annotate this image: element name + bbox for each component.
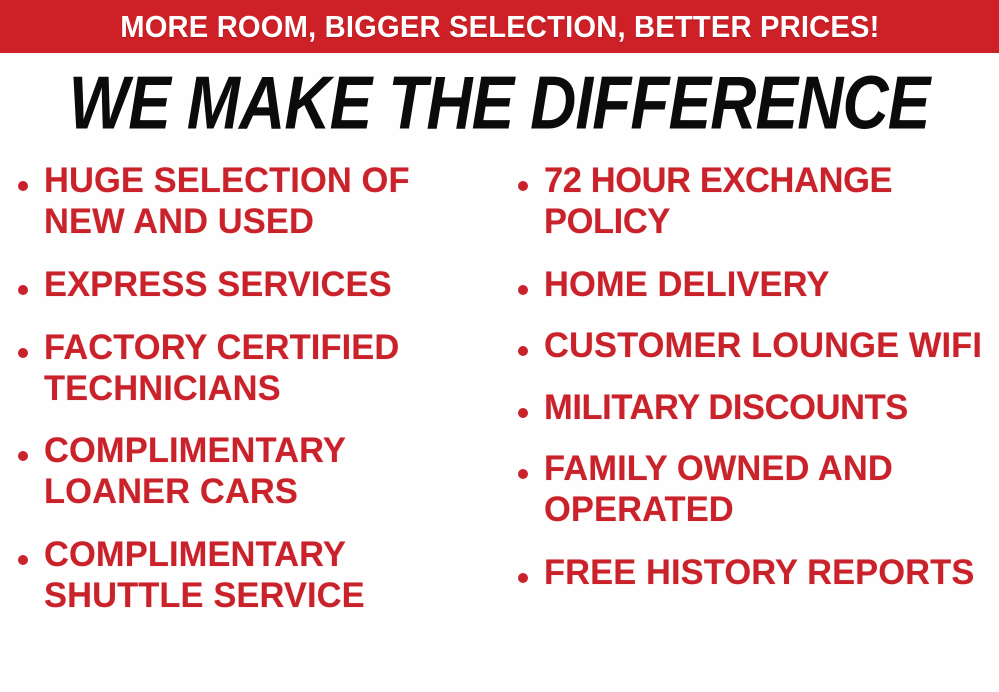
list-item: 72 HOUR EXCHANGE POLICY xyxy=(508,160,999,242)
benefit-label: MILITARY DISCOUNTS xyxy=(544,387,992,428)
benefit-label: CUSTOMER LOUNGE WIFI xyxy=(544,325,992,366)
benefit-label: FACTORY CERTIFIED TECHNICIANS xyxy=(44,327,493,409)
benefit-label: FAMILY OWNED AND OPERATED xyxy=(544,448,992,530)
list-item: CUSTOMER LOUNGE WIFI xyxy=(508,325,999,366)
benefit-label: HOME DELIVERY xyxy=(544,264,992,305)
headline-container: WE MAKE THE DIFFERENCE xyxy=(0,66,999,137)
benefit-label: COMPLIMENTARY LOANER CARS xyxy=(44,430,493,512)
promo-banner: MORE ROOM, BIGGER SELECTION, BETTER PRIC… xyxy=(0,0,999,53)
list-item: FREE HISTORY REPORTS xyxy=(508,552,999,593)
list-item: COMPLIMENTARY LOANER CARS xyxy=(8,430,500,512)
bullet-dot-icon xyxy=(518,469,528,479)
page-title: WE MAKE THE DIFFERENCE xyxy=(69,66,930,141)
bullet-dot-icon xyxy=(18,285,28,295)
list-item: EXPRESS SERVICES xyxy=(8,264,500,305)
benefit-label: COMPLIMENTARY SHUTTLE SERVICE xyxy=(44,534,493,616)
bullet-dot-icon xyxy=(518,408,528,418)
benefits-columns: HUGE SELECTION OF NEW AND USED EXPRESS S… xyxy=(0,160,999,692)
benefits-column-right: 72 HOUR EXCHANGE POLICY HOME DELIVERY CU… xyxy=(508,160,999,607)
bullet-dot-icon xyxy=(518,346,528,356)
bullet-dot-icon xyxy=(518,285,528,295)
bullet-dot-icon xyxy=(18,348,28,358)
benefits-column-left: HUGE SELECTION OF NEW AND USED EXPRESS S… xyxy=(8,160,500,630)
benefit-label: 72 HOUR EXCHANGE POLICY xyxy=(544,160,992,242)
bullet-dot-icon xyxy=(18,555,28,565)
bullet-dot-icon xyxy=(18,451,28,461)
benefit-label: HUGE SELECTION OF NEW AND USED xyxy=(44,160,493,242)
list-item: HOME DELIVERY xyxy=(508,264,999,305)
promotional-poster: MORE ROOM, BIGGER SELECTION, BETTER PRIC… xyxy=(0,0,999,692)
benefit-label: EXPRESS SERVICES xyxy=(44,264,493,305)
list-item: COMPLIMENTARY SHUTTLE SERVICE xyxy=(8,534,500,616)
list-item: MILITARY DISCOUNTS xyxy=(508,387,999,428)
list-item: HUGE SELECTION OF NEW AND USED xyxy=(8,160,500,242)
promo-banner-text: MORE ROOM, BIGGER SELECTION, BETTER PRIC… xyxy=(120,11,879,42)
benefit-label: FREE HISTORY REPORTS xyxy=(544,552,992,593)
bullet-dot-icon xyxy=(518,181,528,191)
list-item: FACTORY CERTIFIED TECHNICIANS xyxy=(8,327,500,409)
bullet-dot-icon xyxy=(518,573,528,583)
list-item: FAMILY OWNED AND OPERATED xyxy=(508,448,999,530)
bullet-dot-icon xyxy=(18,181,28,191)
